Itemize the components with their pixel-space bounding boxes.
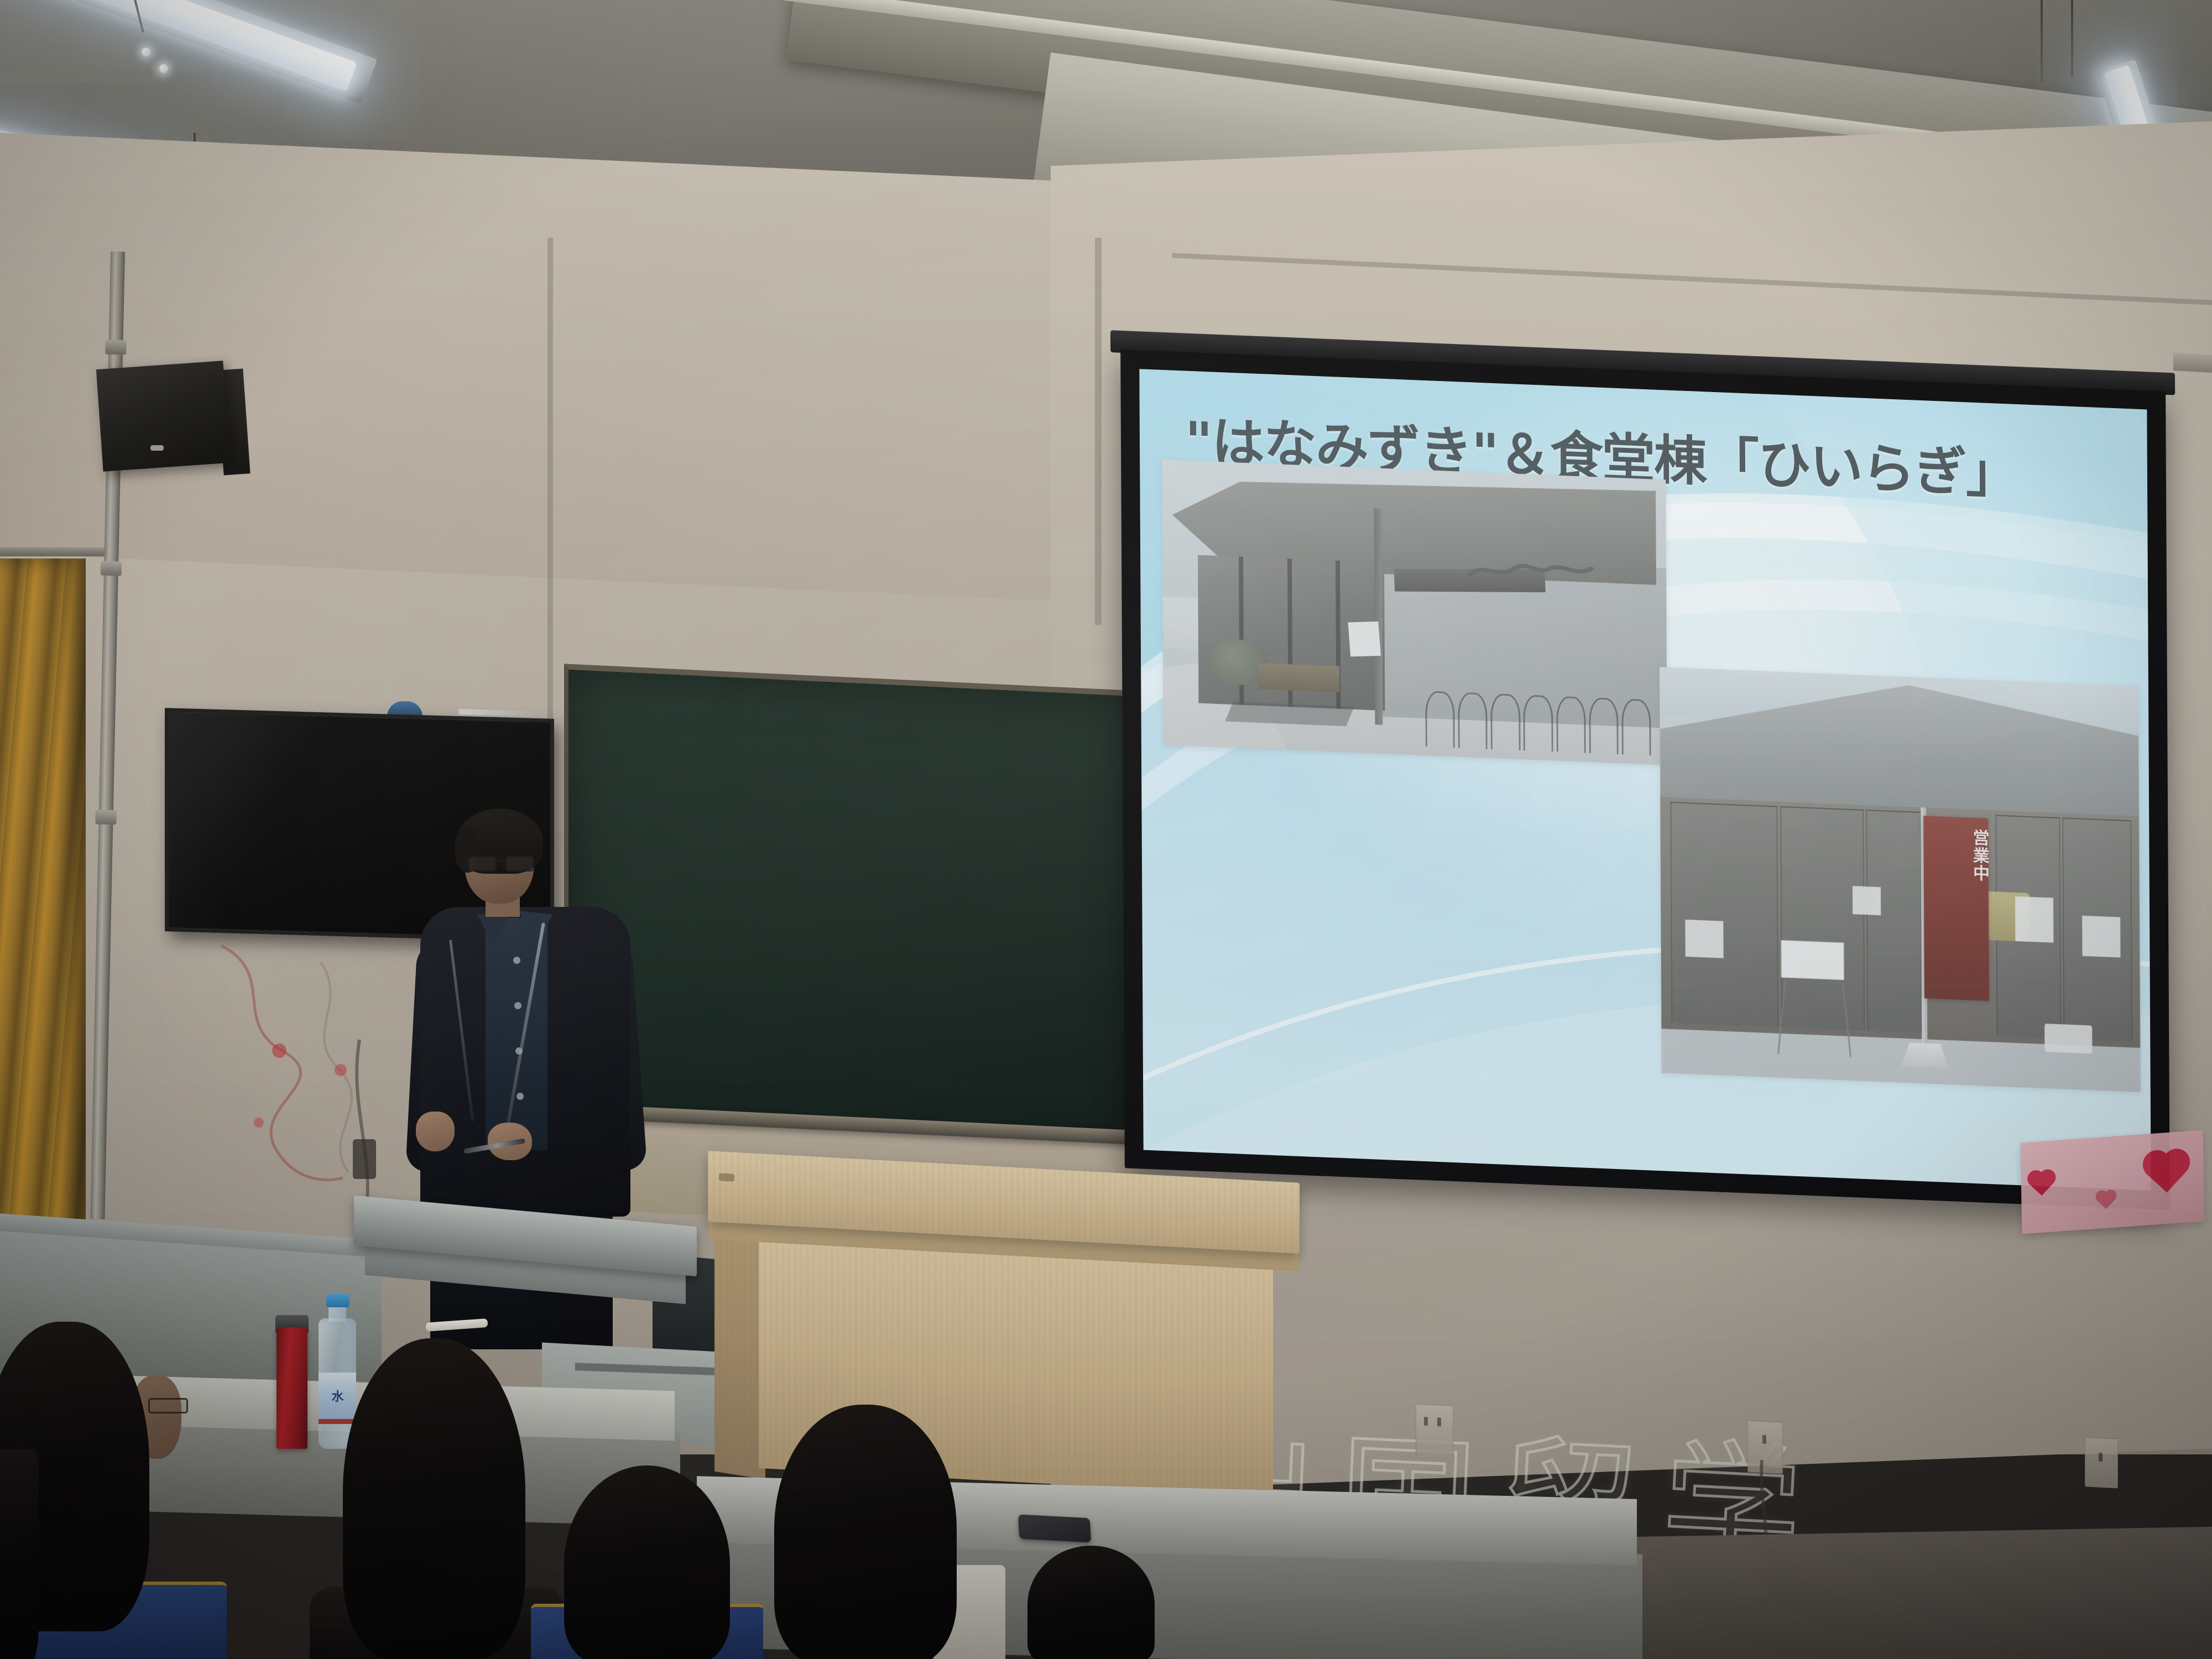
slide: "はなみずき"＆食堂棟「ひいらぎ」 bbox=[1139, 369, 2151, 1191]
bottle-label-text: 水 bbox=[319, 1387, 356, 1405]
wall-outlet[interactable] bbox=[2085, 1437, 2118, 1488]
cafeteria-sign bbox=[1781, 940, 1844, 980]
podium-notch bbox=[719, 1173, 734, 1181]
speaker-led-icon bbox=[150, 445, 164, 451]
window-curtain bbox=[0, 559, 86, 1255]
student-hair-strand bbox=[0, 1449, 39, 1659]
open-banner: 営業中 bbox=[1924, 816, 1990, 1001]
student-hair bbox=[1027, 1546, 1155, 1659]
student-hair bbox=[564, 1465, 730, 1659]
glasses-icon bbox=[148, 1398, 188, 1413]
heart-icon bbox=[2030, 1172, 2053, 1196]
screen-bracket bbox=[2173, 353, 2212, 373]
curtain-rod bbox=[0, 547, 105, 556]
right-desk-side bbox=[1626, 1527, 2212, 1659]
light-knob-icon bbox=[142, 48, 150, 56]
heart-icon bbox=[2147, 1154, 2186, 1193]
bottle-cap bbox=[326, 1294, 349, 1307]
thermos[interactable] bbox=[276, 1327, 307, 1449]
presenter-hand-left bbox=[416, 1112, 455, 1151]
glasses-icon bbox=[468, 856, 532, 869]
wall-seam bbox=[547, 238, 553, 735]
chalkboard-writing-area: 出 国 留 学 bbox=[564, 677, 1139, 1142]
projection-screen[interactable]: "はなみずき"＆食堂棟「ひいらぎ」 bbox=[1120, 349, 2170, 1210]
student-hair bbox=[774, 1405, 957, 1659]
student-hair bbox=[343, 1338, 525, 1659]
light-rod bbox=[2071, 0, 2073, 77]
wall-seam bbox=[1095, 238, 1102, 625]
speaker-icon bbox=[96, 361, 230, 472]
wall-outlet[interactable] bbox=[1416, 1404, 1453, 1460]
light-rod bbox=[2041, 0, 2043, 83]
smartphone[interactable] bbox=[1018, 1514, 1091, 1542]
slide-photo-cafe bbox=[1162, 460, 1667, 765]
wall-poster bbox=[2021, 1130, 2205, 1234]
podium-side bbox=[714, 1234, 765, 1480]
slide-photo-cafeteria: 営業中 bbox=[1660, 667, 2140, 1092]
cafe-logo-icon bbox=[1465, 555, 1596, 591]
open-banner-text: 営業中 bbox=[1924, 827, 1989, 883]
classroom-photo: 出 国 留 学 "はなみずき"＆食堂棟「ひいらぎ」 bbox=[0, 0, 2212, 1659]
light-knob-icon bbox=[159, 64, 168, 73]
heart-icon bbox=[2098, 1192, 2115, 1209]
